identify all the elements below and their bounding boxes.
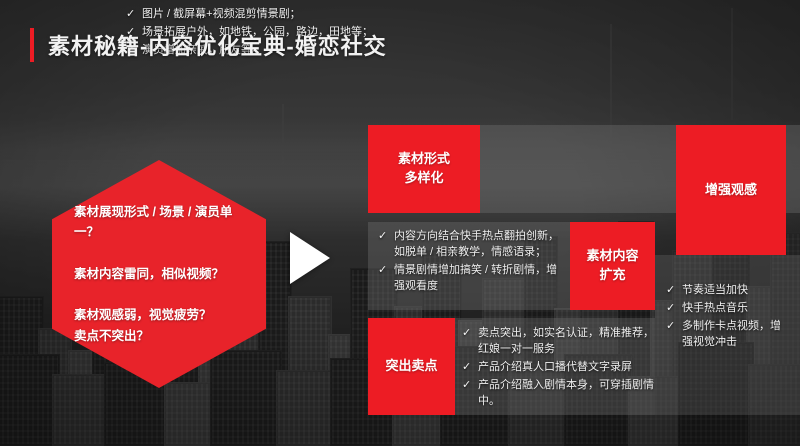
solution-label-text: 素材形式 多样化 [398, 150, 450, 188]
check-icon: ✓ [462, 360, 471, 376]
check-icon: ✓ [378, 229, 387, 245]
solution-row-3-list: ✓卖点突出，如实名认证，精准推荐，红娘一对一服务 ✓产品介绍真人口播代替文字录屏… [462, 326, 658, 412]
solution-label-text: 增强观感 [705, 181, 757, 200]
check-icon: ✓ [666, 301, 675, 317]
problem-hexagon-text: 素材展现形式 / 场景 / 演员单一？ 素材内容雷同，相似视频？ 素材观感弱，视… [52, 202, 266, 346]
check-icon: ✓ [462, 326, 471, 342]
slide-title-bar: 素材秘籍-内容优化宝典-婚恋社交 [30, 28, 387, 62]
check-icon: ✓ [462, 378, 471, 394]
check-icon: ✓ [666, 319, 675, 335]
list-item: ✓情景剧情增加搞笑 / 转折剧情，增强观看度 [378, 263, 568, 295]
list-item: ✓节奏适当加快 [666, 283, 788, 299]
check-icon: ✓ [378, 263, 387, 279]
list-item: ✓内容方向结合快手热点翻拍创新，如脱单 / 相亲教学，情感语录； [378, 229, 568, 261]
check-icon: ✓ [666, 283, 675, 299]
solution-label-enhance-feel[interactable]: 增强观感 [676, 125, 786, 255]
list-item: ✓产品介绍融入剧情本身，可穿插剧情中。 [462, 378, 658, 410]
list-item: ✓多制作卡点视频，增强视觉冲击 [666, 319, 788, 351]
solution-label-selling-points[interactable]: 突出卖点 [368, 318, 455, 415]
solution-label-content-expansion[interactable]: 素材内容 扩充 [570, 222, 655, 310]
list-item: ✓图片 / 截屏幕+视频混剪情景剧； [126, 7, 416, 23]
page-title: 素材秘籍-内容优化宝典-婚恋社交 [48, 29, 387, 61]
flow-arrow-icon [290, 232, 330, 284]
list-item: ✓快手热点音乐 [666, 301, 788, 317]
check-icon: ✓ [126, 7, 135, 23]
solution-row-2-list: ✓内容方向结合快手热点翻拍创新，如脱单 / 相亲教学，情感语录； ✓情景剧情增加… [378, 229, 568, 297]
title-accent-bar [30, 28, 34, 62]
right-column-list: ✓节奏适当加快 ✓快手热点音乐 ✓多制作卡点视频，增强视觉冲击 [666, 283, 788, 353]
solution-label-text: 突出卖点 [385, 357, 437, 376]
solution-label-form-diversity[interactable]: 素材形式 多样化 [368, 125, 480, 213]
list-item: ✓产品介绍真人口播代替文字录屏 [462, 360, 658, 376]
list-item: ✓卖点突出，如实名认证，精准推荐，红娘一对一服务 [462, 326, 658, 358]
solution-label-text: 素材内容 扩充 [586, 247, 638, 285]
